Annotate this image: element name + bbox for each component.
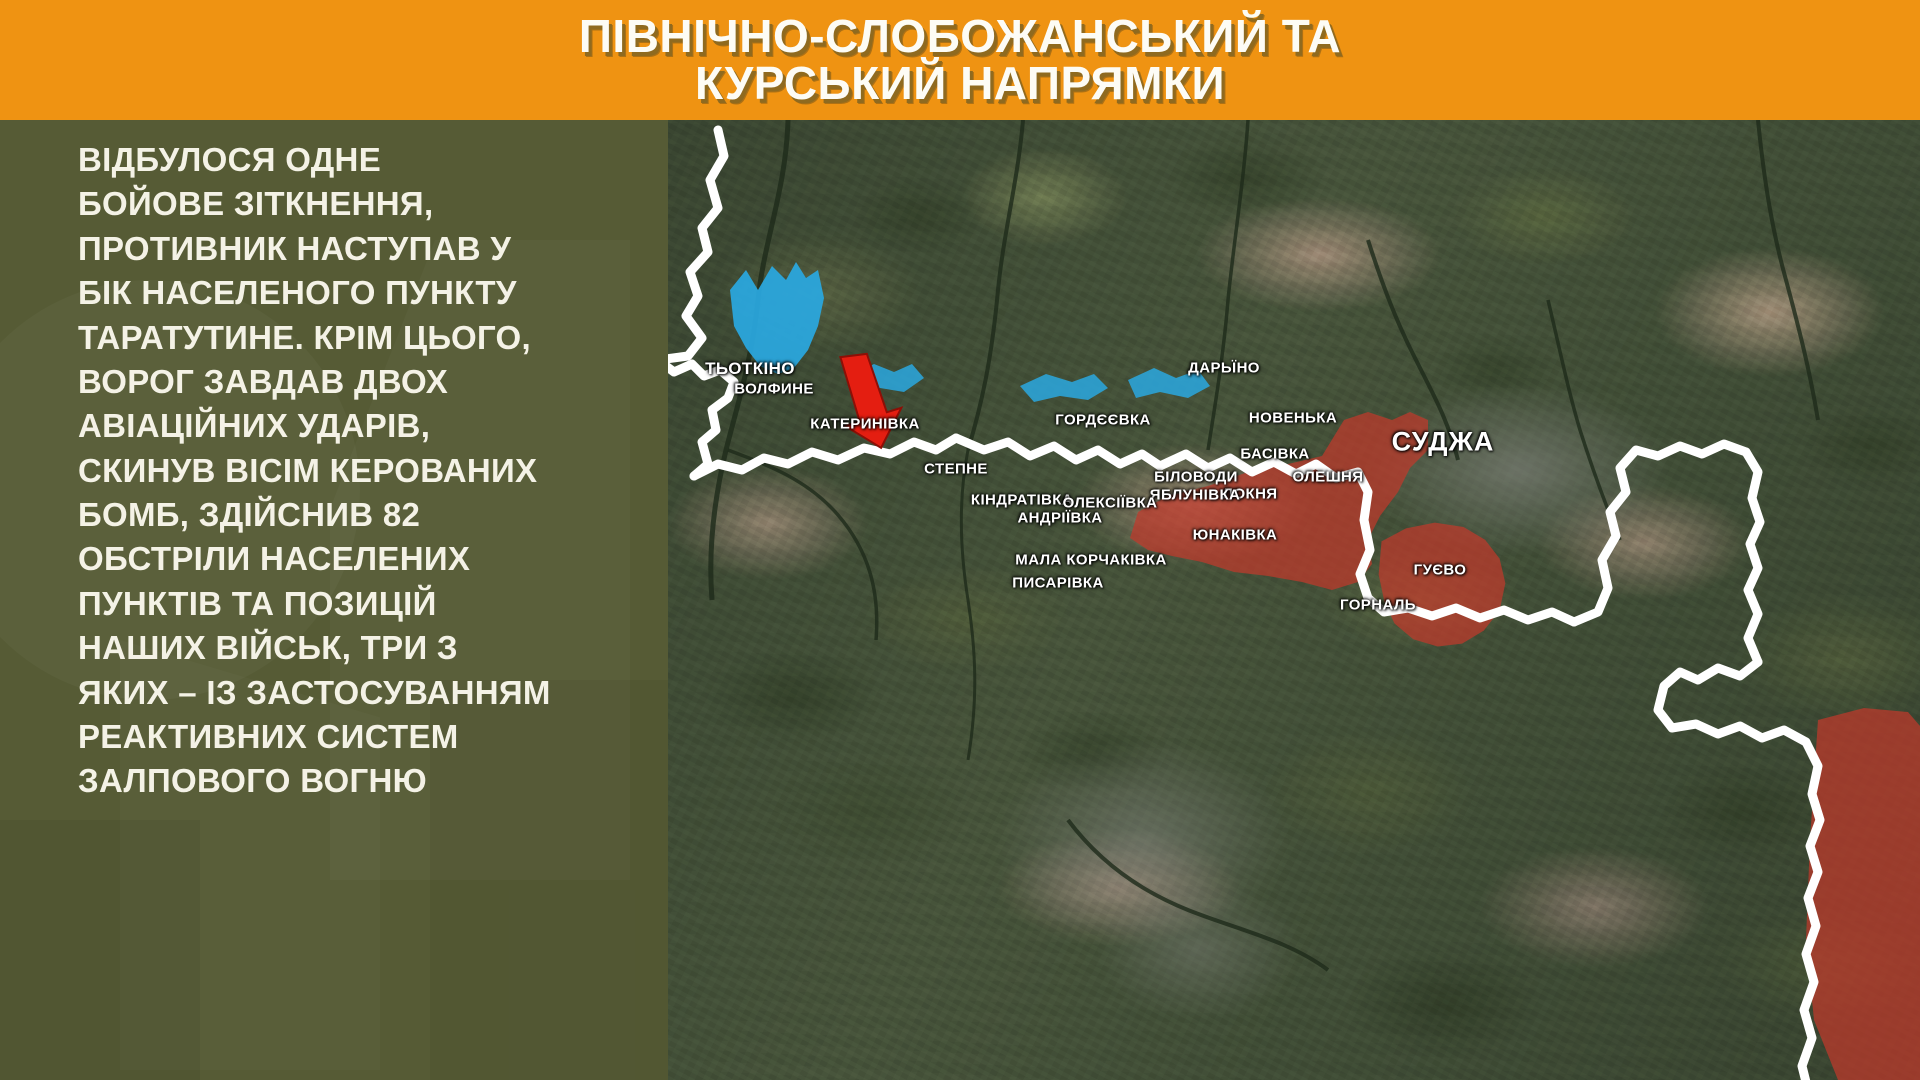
infographic-root: ПІВНІЧНО-СЛОБОЖАНСЬКИЙ ТА КУРСЬКИЙ НАПРЯ… bbox=[0, 0, 1920, 1080]
state-border-line bbox=[668, 130, 1820, 1080]
title-line-1: ПІВНІЧНО-СЛОБОЖАНСЬКИЙ ТА bbox=[579, 13, 1341, 60]
occupied-zones bbox=[1130, 412, 1920, 1080]
title-line-2: КУРСЬКИЙ НАПРЯМКИ bbox=[579, 60, 1341, 107]
page-title: ПІВНІЧНО-СЛОБОЖАНСЬКИЙ ТА КУРСЬКИЙ НАПРЯ… bbox=[579, 13, 1341, 108]
map-vector-overlay bbox=[668, 120, 1920, 1080]
water-bodies bbox=[730, 262, 1210, 402]
satellite-map: ТЬОТКІНО ВОЛФИНЕ КАТЕРИНІВКА СТЕПНЕ ГОРД… bbox=[668, 120, 1920, 1080]
briefing-text: ВІДБУЛОСЯ ОДНЕ БОЙОВЕ ЗІТКНЕННЯ, ПРОТИВН… bbox=[0, 120, 668, 804]
briefing-panel: ВІДБУЛОСЯ ОДНЕ БОЙОВЕ ЗІТКНЕННЯ, ПРОТИВН… bbox=[0, 120, 668, 1080]
header-banner: ПІВНІЧНО-СЛОБОЖАНСЬКИЙ ТА КУРСЬКИЙ НАПРЯ… bbox=[0, 0, 1920, 120]
watermark-shape-4 bbox=[0, 820, 200, 1080]
attack-arrow-icon bbox=[831, 351, 906, 449]
